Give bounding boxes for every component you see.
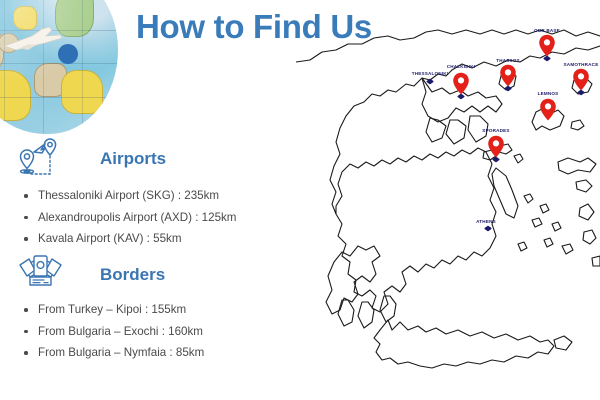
map-label-lemnos: LEMNOS bbox=[538, 91, 559, 96]
map-pin-lemnos[interactable] bbox=[540, 98, 557, 121]
section-header-borders: Borders bbox=[14, 252, 165, 298]
map-label-samothrace: SAMOTHRACE bbox=[564, 62, 599, 67]
list-item: Thessaloniki Airport (SKG) : 235km bbox=[16, 190, 236, 202]
list-item: From Bulgaria – Nymfaia : 85km bbox=[16, 347, 204, 359]
map-pin-thassos[interactable] bbox=[500, 64, 517, 87]
list-item: From Turkey – Kipoi : 155km bbox=[16, 304, 204, 316]
map-pin-samothrace[interactable] bbox=[573, 68, 590, 91]
list-item: Kavala Airport (KAV) : 55km bbox=[16, 233, 236, 245]
map-pin-our-base[interactable] bbox=[539, 34, 556, 57]
map-label-chalkidiki: CHALKIDIKI bbox=[447, 64, 476, 69]
section-title-airports: Airports bbox=[76, 149, 166, 169]
route-pins-plane-icon bbox=[14, 136, 66, 182]
globe-photo bbox=[0, 0, 118, 134]
map-label-our-base: OUR BASE bbox=[534, 28, 560, 33]
list-item: From Bulgaria – Exochi : 160km bbox=[16, 326, 204, 338]
map-label-athens: ATHENS bbox=[476, 219, 496, 224]
map-label-sporades: SPORADES bbox=[482, 128, 509, 133]
how-to-find-us-page: How to Find Us Airports Thessaloniki Air… bbox=[0, 0, 600, 400]
passport-documents-icon bbox=[14, 252, 66, 298]
section-header-airports: Airports bbox=[14, 136, 166, 182]
borders-list: From Turkey – Kipoi : 155km From Bulgari… bbox=[16, 304, 204, 369]
airports-list: Thessaloniki Airport (SKG) : 235km Alexa… bbox=[16, 190, 236, 255]
map-label-thessaloniki: THESSALONIKI bbox=[412, 71, 449, 76]
list-item: Alexandroupolis Airport (AXD) : 125km bbox=[16, 212, 236, 224]
section-title-borders: Borders bbox=[76, 265, 165, 285]
blue-dot-accent bbox=[58, 44, 78, 64]
greece-map-outline bbox=[296, 0, 600, 400]
globe-gloss bbox=[0, 0, 118, 134]
map-pin-sporades[interactable] bbox=[488, 135, 505, 158]
greece-map: OUR BASE THASSOS SAMOTHRACE CHALKIDIKI L… bbox=[296, 0, 600, 400]
map-label-thassos: THASSOS bbox=[496, 58, 520, 63]
map-pin-chalkidiki[interactable] bbox=[453, 72, 470, 95]
